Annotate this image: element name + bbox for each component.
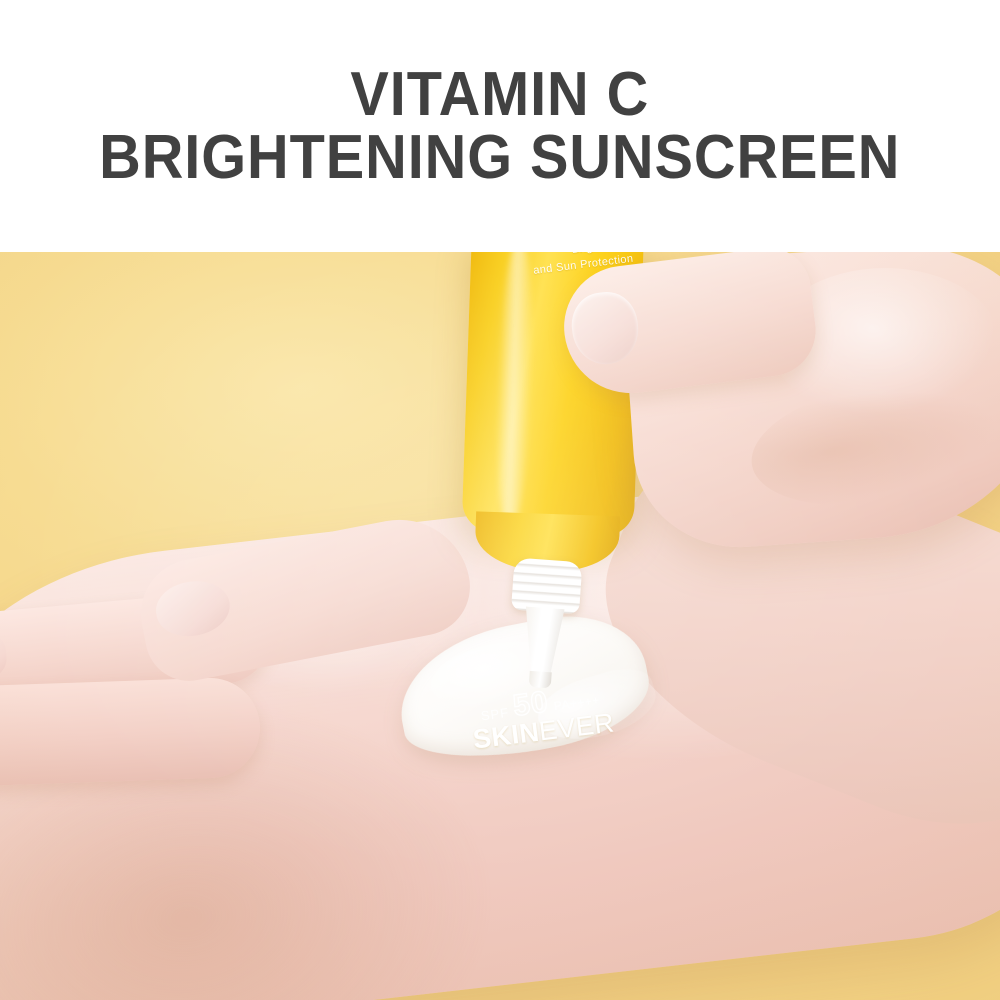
title-line-1: VITAMIN C: [99, 63, 900, 126]
header-band: VITAMIN C BRIGHTENING SUNSCREEN: [0, 0, 1000, 252]
page-title: VITAMIN C BRIGHTENING SUNSCREEN: [99, 63, 900, 189]
product-photo: Brightening and Sun Protection SPF 50 PA…: [0, 252, 1000, 1000]
product-marketing-image: VITAMIN C BRIGHTENING SUNSCREEN: [0, 0, 1000, 1000]
photo-vignette: [0, 252, 1000, 1000]
title-line-2: BRIGHTENING SUNSCREEN: [99, 126, 900, 189]
